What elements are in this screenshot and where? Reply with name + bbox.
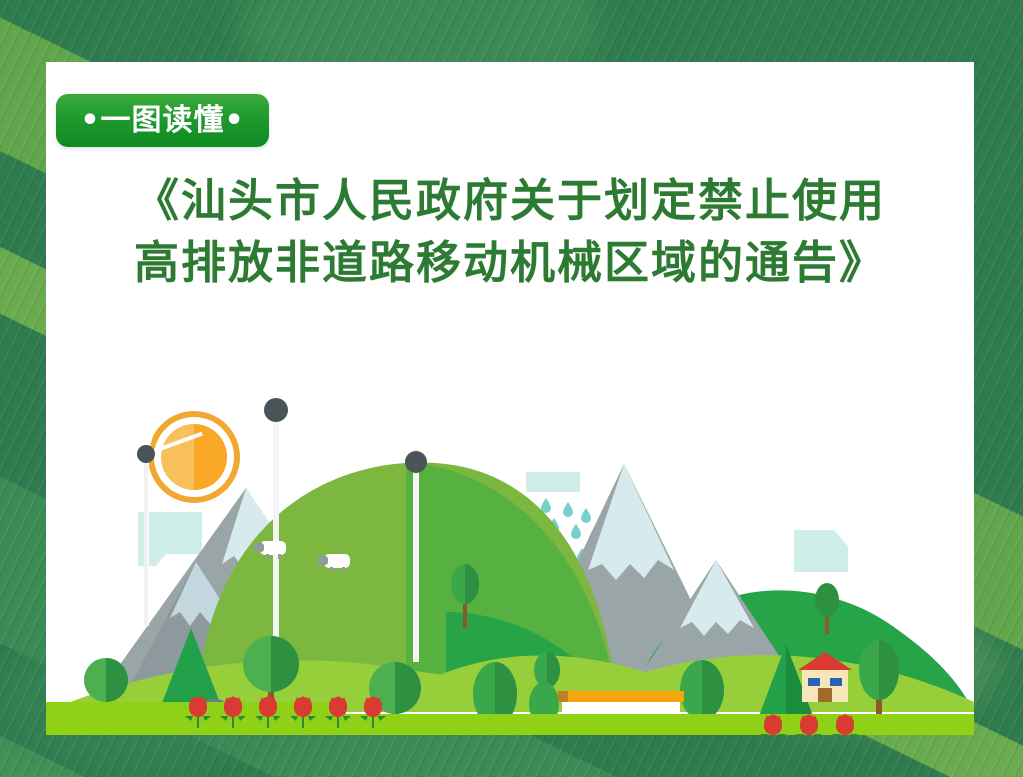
eco-landscape-illustration — [46, 312, 974, 735]
page-title-line-1: 《汕头市人民政府关于划定禁止使用 — [46, 170, 974, 232]
sun-icon — [151, 414, 237, 500]
read-in-one-picture-badge[interactable]: •一图读懂• — [56, 94, 269, 147]
badge-label: •一图读懂• — [80, 106, 244, 136]
page-title-line-2: 高排放非道路移动机械区域的通告》 — [46, 232, 974, 294]
cloud-icon — [526, 472, 580, 492]
page-title: 《汕头市人民政府关于划定禁止使用 高排放非道路移动机械区域的通告》 — [46, 170, 974, 294]
tree-round — [859, 640, 899, 726]
cloud-icon — [794, 530, 848, 572]
info-card: •一图读懂• 《汕头市人民政府关于划定禁止使用 高排放非道路移动机械区域的通告》 — [46, 62, 974, 735]
